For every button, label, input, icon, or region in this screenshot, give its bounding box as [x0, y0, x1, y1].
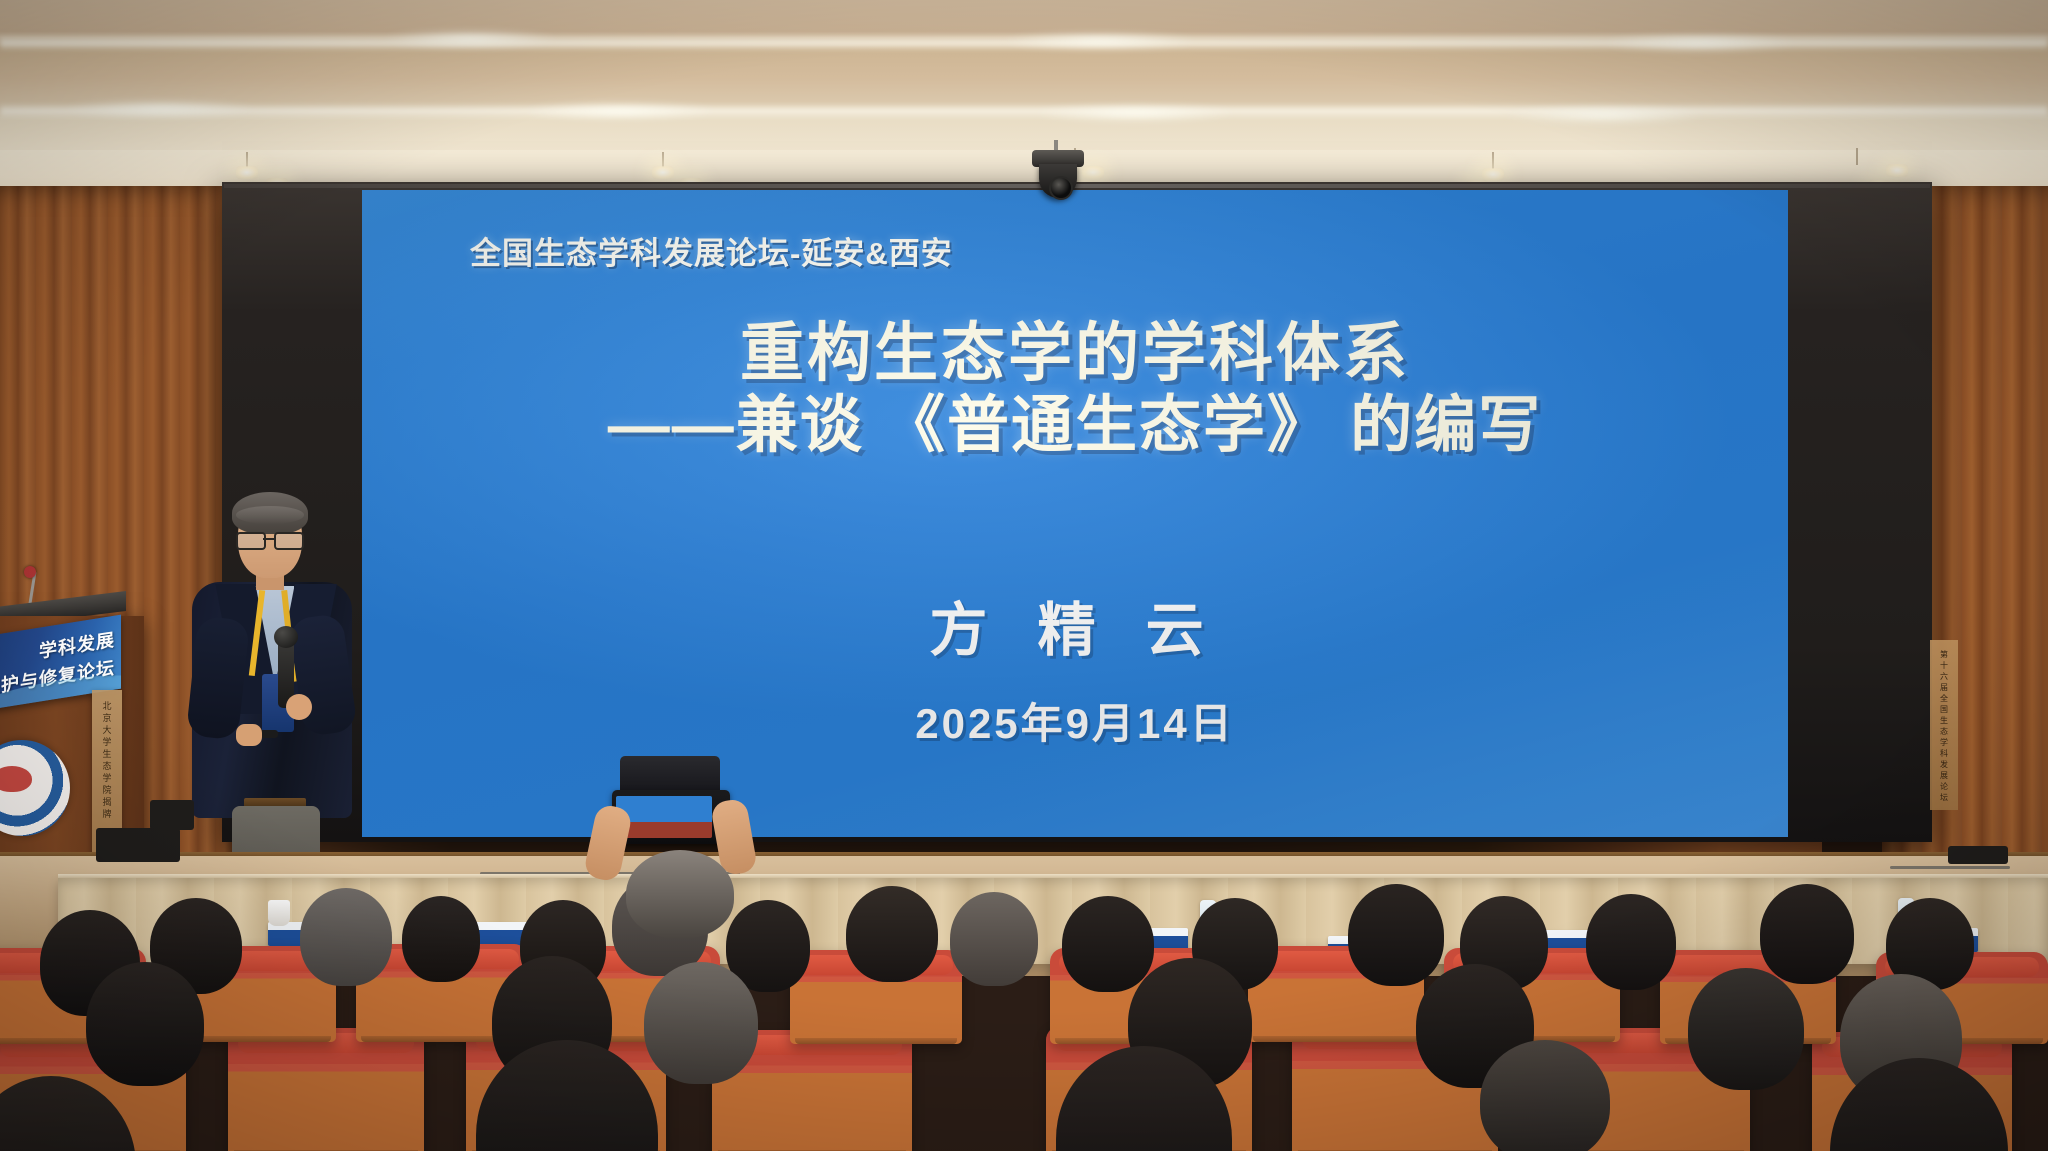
wall-plaque-right-text: 第十六届全国生态学科发展论坛: [1938, 649, 1950, 803]
av-equipment: [96, 828, 180, 862]
lens-left: [236, 532, 266, 550]
audience-head: [1348, 884, 1444, 986]
audience-head: [1688, 968, 1804, 1090]
cove-glow: [1000, 32, 1200, 50]
downlight-stem: [1492, 152, 1494, 169]
paper-cup: [268, 900, 290, 926]
cove-glow: [520, 102, 720, 120]
slide-author: 方 精 云: [362, 583, 1788, 667]
audience-head: [402, 896, 480, 982]
audience-head: [86, 962, 204, 1086]
downlight-stem: [1856, 148, 1858, 165]
cove-glow: [1500, 106, 1710, 124]
eyeglasses-icon: [236, 532, 304, 546]
audience-head: [1760, 884, 1854, 984]
downlight: [236, 166, 258, 179]
av-equipment: [1948, 846, 2008, 864]
audience-head: [1062, 896, 1154, 992]
cove-glow: [380, 30, 560, 48]
av-equipment: [150, 800, 194, 830]
cove-glow: [1030, 104, 1240, 122]
audience-head: [1586, 894, 1676, 990]
bezel-highlight: [224, 184, 1930, 188]
auditorium-scene: 全国生态学科发展论坛-延安&西安 重构生态学的学科体系 ——兼谈 《普通生态学》…: [0, 0, 2048, 1151]
handheld-microphone-icon: [274, 626, 298, 648]
audience-head: [1480, 1040, 1610, 1151]
speaker-hair: [232, 492, 308, 534]
speaker-hand-right: [286, 694, 312, 720]
cove-glow: [60, 100, 260, 118]
slide-title-line2: ——兼谈 《普通生态学》 的编写: [362, 374, 1788, 464]
microphone-icon: [24, 566, 36, 578]
wall-plaque-right: 第十六届全国生态学科发展论坛: [1930, 640, 1958, 810]
phone-screen-preview: [616, 796, 712, 838]
slide-header: 全国生态学科发展论坛-延安&西安: [470, 228, 953, 273]
filmer-head: [626, 850, 734, 938]
audience-head: [950, 892, 1038, 986]
speaker-figure: [186, 498, 372, 898]
audience-head: [644, 962, 758, 1084]
wall-plaque-left-text: 北京大学生态学院揭牌: [100, 700, 114, 820]
downlight: [1482, 168, 1504, 181]
audience-head: [300, 888, 392, 986]
audience-head: [846, 886, 938, 982]
speaker-hand-left: [236, 724, 262, 746]
downlight: [652, 166, 674, 179]
camera-lens-icon: [1049, 176, 1073, 200]
downlight: [1886, 164, 1908, 177]
auditorium-seat: [228, 1028, 424, 1151]
downlight: [1082, 166, 1104, 179]
audience-member-filming: [596, 766, 756, 916]
cove-glow: [1600, 34, 1800, 52]
presentation-slide[interactable]: 全国生态学科发展论坛-延安&西安 重构生态学的学科体系 ——兼谈 《普通生态学》…: [362, 190, 1788, 837]
lens-right: [274, 532, 304, 550]
slide-date: 2025年9月14日: [362, 690, 1788, 751]
cove-light-strip-lower: [0, 104, 2048, 118]
floor-cable: [1890, 866, 2010, 869]
